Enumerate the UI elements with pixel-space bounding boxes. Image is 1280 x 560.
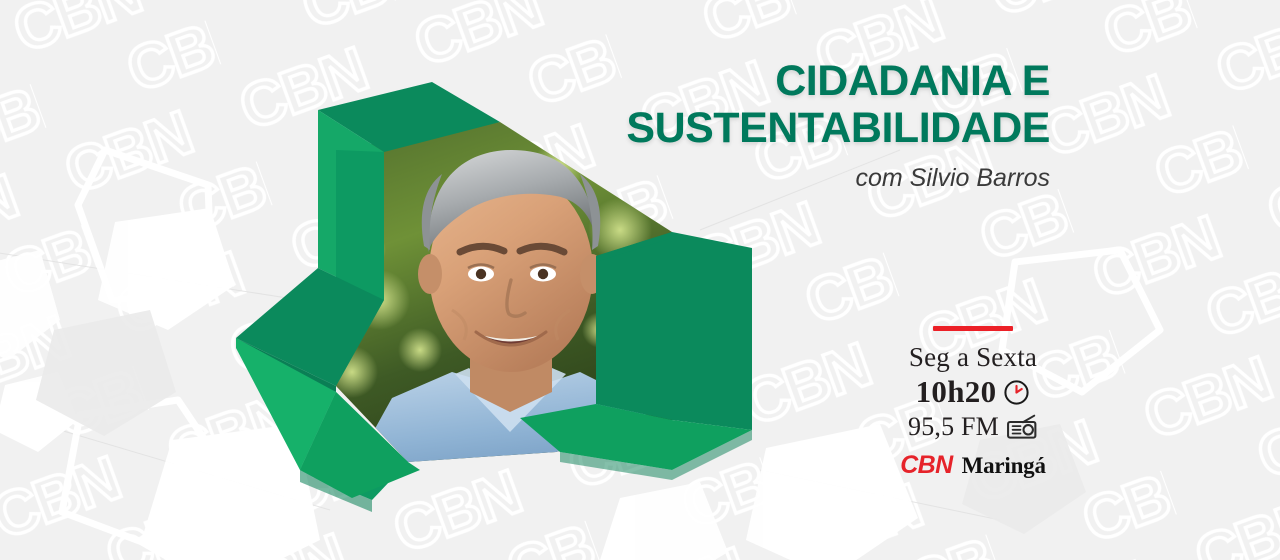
headline-line-2: SUSTENTABILIDADE <box>430 105 1050 152</box>
station-city-name: Maringá <box>962 453 1046 479</box>
schedule-block: Seg a Sexta 10h20 95,5 FM <box>862 326 1084 480</box>
schedule-time-row: 10h20 <box>862 374 1084 410</box>
schedule-divider <box>933 326 1013 331</box>
schedule-days: Seg a Sexta <box>862 341 1084 373</box>
headline-block: CIDADANIA E SUSTENTABILIDADE com Silvio … <box>430 58 1050 192</box>
radio-icon <box>1006 413 1038 440</box>
schedule-frequency-row: 95,5 FM <box>862 411 1084 442</box>
station-network-name: CBN <box>900 451 952 480</box>
station-logo: CBN Maringá <box>862 451 1084 480</box>
schedule-time: 10h20 <box>916 374 997 410</box>
headline-subtitle: com Silvio Barros <box>430 164 1050 192</box>
headline-line-1: CIDADANIA E <box>430 58 1050 105</box>
schedule-frequency: 95,5 FM <box>908 411 999 442</box>
banner-root: CBN CBN <box>0 0 1280 560</box>
clock-icon <box>1003 379 1030 406</box>
